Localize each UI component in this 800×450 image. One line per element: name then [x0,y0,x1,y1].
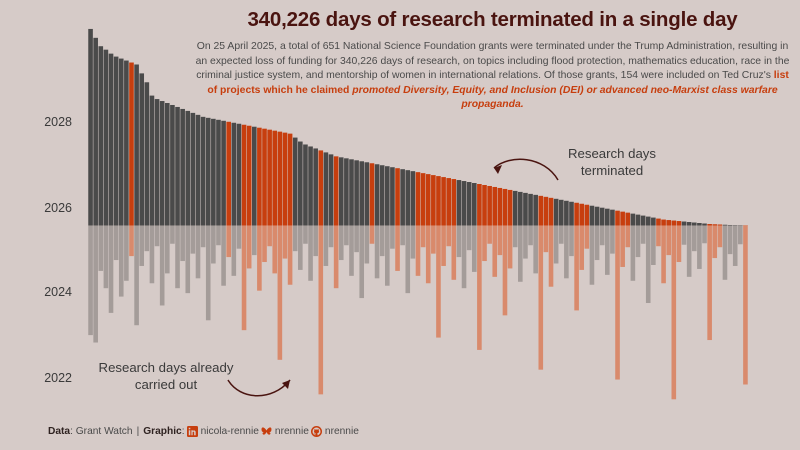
bar-terminated [656,219,661,226]
footer-graphic-label: Graphic [143,426,182,437]
bar-terminated [538,196,543,226]
bar-carried-out [98,225,103,270]
bar-terminated [232,123,237,226]
y-axis-tick-2028: 2028 [12,115,72,129]
bar-carried-out [185,225,190,293]
bar-carried-out [139,225,144,265]
bar-terminated [697,223,702,225]
bar-terminated [124,61,129,226]
bar-carried-out [528,225,533,245]
bar-terminated [405,170,410,225]
bar-carried-out [334,225,339,288]
bar-terminated [313,148,318,225]
github-handle[interactable]: nrennie [325,426,359,437]
bar-terminated [375,164,380,225]
bar-carried-out [641,225,646,243]
bar-terminated [651,218,656,226]
bar-carried-out [707,225,712,340]
footer-data-value: : Grant Watch [70,426,132,437]
bar-terminated [221,121,226,226]
bar-carried-out [354,225,359,252]
bar-terminated [139,73,144,225]
bar-terminated [723,225,728,226]
bar-terminated [620,212,625,226]
bar-carried-out [109,225,114,312]
bar-carried-out [400,225,405,245]
bar-terminated [109,54,114,226]
bar-terminated [487,186,492,226]
bar-terminated [329,154,334,225]
bar-terminated [702,224,707,226]
bar-carried-out [349,225,354,275]
bar-carried-out [590,225,595,284]
bar-carried-out [452,225,457,279]
bar-carried-out [682,225,687,244]
bar-terminated [165,103,170,225]
bar-carried-out [252,225,257,255]
bar-carried-out [416,225,421,275]
bar-terminated [267,130,272,226]
bar-terminated [293,138,298,226]
bar-carried-out [232,225,237,275]
bar-terminated [631,214,636,226]
bar-terminated [150,96,155,226]
bar-carried-out [226,225,231,257]
bar-carried-out [692,225,697,251]
bar-terminated [636,215,641,226]
bar-carried-out [216,225,221,245]
bar-terminated [257,128,262,226]
bar-carried-out [201,225,206,247]
bar-carried-out [165,225,170,273]
bar-terminated [155,99,160,225]
bar-carried-out [549,225,554,286]
bar-terminated [349,159,354,225]
bar-terminated [692,223,697,226]
bar-carried-out [482,225,487,261]
bar-terminated [452,179,457,225]
bar-terminated [390,167,395,225]
bar-terminated [446,178,451,225]
bar-terminated [610,210,615,226]
bar-carried-out [134,225,139,325]
bar-terminated [324,152,329,225]
bar-terminated [554,199,559,226]
bar-carried-out [288,225,293,284]
bar-carried-out [431,225,436,253]
annotation-research-days-terminated: Research days terminated [552,146,672,179]
bar-terminated [145,82,150,225]
bar-carried-out [625,225,630,247]
bar-terminated [201,117,206,226]
bar-carried-out [339,225,344,260]
bar-carried-out [237,225,242,248]
bar-terminated [436,176,441,225]
bar-carried-out [615,225,620,379]
bar-carried-out [559,225,564,243]
bar-carried-out [441,225,446,265]
bar-terminated [283,133,288,226]
bar-terminated [457,180,462,225]
github-icon[interactable] [311,426,322,437]
bar-terminated [431,175,436,225]
bar-carried-out [278,225,283,359]
bar-terminated [272,131,277,226]
bar-carried-out [487,225,492,243]
bar-carried-out [267,225,272,246]
bar-terminated [533,195,538,226]
bar-carried-out [738,225,743,244]
bar-carried-out [538,225,543,369]
bar-terminated [462,181,467,225]
bar-carried-out [569,225,574,256]
bar-terminated [544,197,549,226]
bar-terminated [180,109,185,226]
bluesky-handle[interactable]: nrennie [275,426,309,437]
bar-carried-out [585,225,590,248]
bar-carried-out [242,225,247,330]
bar-terminated [93,38,98,226]
bar-terminated [590,206,595,226]
bar-terminated [88,29,93,226]
bar-terminated [641,216,646,226]
bar-terminated [160,101,165,225]
bar-carried-out [303,225,308,243]
bar-carried-out [180,225,185,261]
bar-terminated [672,221,677,226]
bar-terminated [359,161,364,225]
bar-terminated [262,129,267,226]
bar-carried-out [631,225,636,280]
bar-carried-out [390,225,395,248]
bar-terminated [288,134,293,226]
bar-terminated [134,64,139,225]
bar-carried-out [150,225,155,283]
bar-terminated [467,182,472,225]
footer-data-label: Data [48,426,70,437]
bar-terminated [595,207,600,226]
bar-terminated [247,126,252,226]
bar-carried-out [687,225,692,276]
bar-carried-out [600,225,605,245]
bar-terminated [185,111,190,226]
bar-terminated [687,222,692,225]
bar-carried-out [160,225,165,305]
bar-terminated [237,124,242,226]
y-axis-tick-2022: 2022 [12,371,72,385]
bar-terminated [226,122,231,226]
bar-terminated [411,171,416,225]
bar-terminated [707,224,712,225]
bar-carried-out [411,225,416,258]
bar-terminated [211,119,216,226]
y-axis-tick-2024: 2024 [12,285,72,299]
bar-carried-out [426,225,431,283]
bar-carried-out [498,225,503,255]
bar-carried-out [666,225,671,255]
bar-terminated [482,185,487,225]
bar-terminated [416,172,421,225]
bar-terminated [549,198,554,226]
bar-terminated [395,168,400,225]
bar-carried-out [344,225,349,245]
bar-terminated [677,221,682,225]
bar-carried-out [446,225,451,246]
bar-carried-out [523,225,528,258]
bar-terminated [278,132,283,226]
bar-carried-out [324,225,329,265]
bar-carried-out [104,225,109,288]
bar-terminated [252,127,257,226]
bar-terminated [441,177,446,225]
bar-carried-out [436,225,441,337]
footer-graphic-colon: : [182,426,185,437]
bar-carried-out [677,225,682,262]
bar-terminated [477,184,482,225]
bar-terminated [196,115,201,226]
bar-carried-out [405,225,410,293]
bar-carried-out [492,225,497,276]
bar-carried-out [247,225,252,268]
bar-carried-out [329,225,334,247]
bar-carried-out [595,225,600,260]
bar-carried-out [191,225,196,253]
bar-terminated [682,222,687,226]
bar-carried-out [293,225,298,251]
bar-terminated [421,173,426,225]
bar-terminated [119,59,124,226]
bar-carried-out [124,225,129,280]
bar-carried-out [467,225,472,250]
bar-carried-out [170,225,175,243]
bar-terminated [712,224,717,225]
bar-carried-out [457,225,462,257]
bar-carried-out [672,225,677,399]
annotation-research-days-carried-out: Research days already carried out [96,360,236,393]
bar-terminated [370,163,375,225]
bar-terminated [334,156,339,225]
bar-carried-out [518,225,523,281]
bar-carried-out [385,225,390,285]
bar-terminated [605,209,610,226]
bar-terminated [661,220,666,226]
bar-terminated [569,202,574,226]
bar-terminated [344,158,349,225]
bar-terminated [615,211,620,226]
bar-carried-out [421,225,426,247]
bar-carried-out [697,225,702,268]
bar-terminated [191,113,196,226]
bar-terminated [513,191,518,226]
bar-terminated [216,120,221,226]
bar-terminated [318,150,323,225]
bar-terminated [129,63,134,226]
bar-terminated [114,57,119,226]
bar-carried-out [718,225,723,247]
bar-carried-out [712,225,717,258]
bar-terminated [303,144,308,225]
bar-terminated [585,205,590,226]
bar-carried-out [646,225,651,303]
bar-carried-out [636,225,641,257]
bar-carried-out [620,225,625,266]
bar-carried-out [283,225,288,258]
bar-carried-out [472,225,477,271]
bar-terminated [400,169,405,225]
bar-carried-out [375,225,380,278]
footer-credits: Data: Grant Watch |Graphic: nicola-renni… [48,426,359,437]
bar-carried-out [477,225,482,349]
bar-carried-out [743,225,748,384]
bar-carried-out [196,225,201,278]
bar-carried-out [661,225,666,283]
bar-terminated [508,190,513,226]
bar-terminated [518,192,523,226]
bar-carried-out [119,225,124,296]
bar-carried-out [554,225,559,263]
bar-carried-out [574,225,579,310]
bar-terminated [718,224,723,225]
bar-terminated [354,160,359,225]
bar-terminated [98,46,103,225]
bar-carried-out [370,225,375,243]
bar-carried-out [503,225,508,315]
bar-terminated [528,194,533,226]
bar-carried-out [221,225,226,285]
bar-carried-out [155,225,160,246]
bar-terminated [104,50,109,226]
bar-carried-out [395,225,400,270]
bar-terminated [498,188,503,226]
bar-terminated [242,125,247,226]
bar-terminated [308,146,313,225]
bar-carried-out [564,225,569,278]
bar-terminated [426,174,431,225]
bar-carried-out [610,225,615,253]
bar-carried-out [733,225,738,265]
linkedin-icon[interactable] [187,426,198,437]
bar-carried-out [318,225,323,394]
bar-terminated [625,213,630,226]
bar-terminated [564,201,569,226]
bar-carried-out [605,225,610,274]
bar-terminated [523,193,528,226]
bar-carried-out [533,225,538,273]
bar-terminated [492,187,497,226]
bar-terminated [339,157,344,225]
bar-carried-out [723,225,728,279]
bar-carried-out [728,225,733,254]
bar-carried-out [114,225,119,260]
y-axis-tick-2026: 2026 [12,201,72,215]
bar-carried-out [508,225,513,268]
bar-carried-out [93,225,98,342]
bar-terminated [365,162,370,225]
bar-carried-out [544,225,549,252]
bar-terminated [666,220,671,225]
bar-terminated [385,166,390,225]
bar-carried-out [129,225,134,256]
bar-terminated [600,208,605,226]
bar-terminated [728,225,733,226]
bar-terminated [472,183,477,225]
bar-terminated [503,189,508,226]
bar-carried-out [579,225,584,269]
bar-terminated [170,105,175,225]
bar-carried-out [462,225,467,288]
bar-carried-out [262,225,267,262]
bar-carried-out [380,225,385,256]
bar-carried-out [272,225,277,273]
bar-carried-out [513,225,518,247]
linkedin-handle[interactable]: nicola-rennie [201,426,259,437]
bar-carried-out [175,225,180,288]
bar-carried-out [145,225,150,251]
bar-carried-out [211,225,216,263]
bar-carried-out [298,225,303,269]
bar-terminated [579,204,584,226]
bar-carried-out [308,225,313,280]
bar-carried-out [359,225,364,298]
bar-carried-out [656,225,661,246]
bar-terminated [646,217,651,226]
bar-carried-out [702,225,707,243]
bar-terminated [380,165,385,225]
infographic-root: 340,226 days of research terminated in a… [0,0,800,450]
bar-carried-out [313,225,318,256]
bar-terminated [298,142,303,226]
bar-terminated [559,200,564,226]
bar-carried-out [206,225,211,320]
bar-terminated [574,203,579,226]
bar-terminated [206,118,211,226]
footer-separator: | [137,426,140,437]
bar-carried-out [651,225,656,265]
bar-carried-out [365,225,370,263]
bluesky-butterfly-icon[interactable] [261,426,272,437]
bar-carried-out [257,225,262,290]
bar-carried-out [88,225,93,335]
bar-terminated [175,107,180,226]
